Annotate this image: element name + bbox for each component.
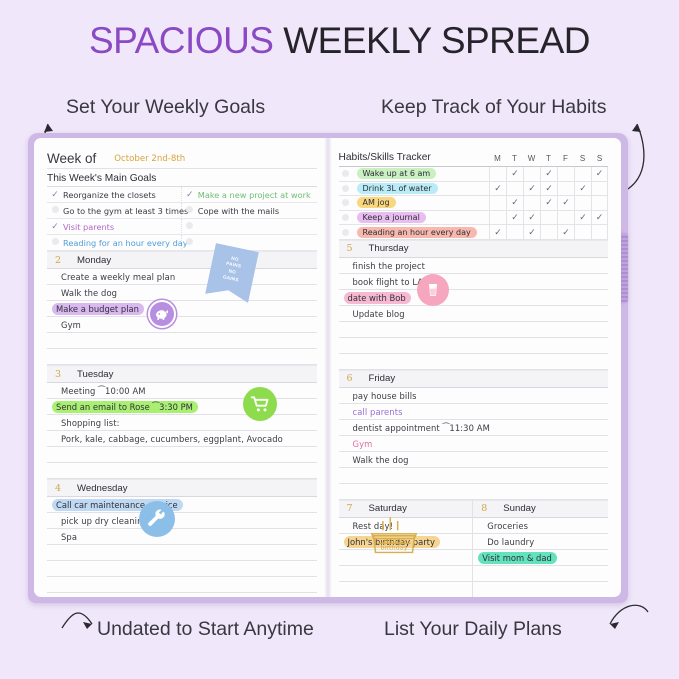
- goal-row[interactable]: ✓Visit parents: [47, 219, 182, 235]
- habit-check-empty[interactable]: [574, 167, 591, 181]
- day-block: 8SundayGroceriesDo laundryVisit mom & da…: [473, 500, 608, 597]
- goal-label: Go to the gym at least 3 times: [63, 206, 188, 216]
- habit-label: Wake up at 6 am: [357, 168, 437, 179]
- habit-check-cells: ✓✓✓✓: [489, 211, 608, 225]
- habit-check-empty[interactable]: [557, 167, 574, 181]
- goal-row[interactable]: Cope with the mails: [182, 203, 317, 219]
- day-number: 5: [339, 243, 361, 254]
- habit-label: Reading an hour every day: [357, 227, 477, 238]
- planner-line-text: Walk the dog: [61, 288, 117, 298]
- planner-line[interactable]: [47, 593, 317, 597]
- caption-set-weekly-goals: Set Your Weekly Goals: [66, 96, 265, 119]
- planner-line-text: call parents: [353, 407, 403, 417]
- habit-check-marked[interactable]: ✓: [557, 196, 574, 210]
- planner-line[interactable]: Shopping list:: [47, 415, 317, 431]
- habit-row[interactable]: AM jog✓✓✓: [339, 196, 609, 211]
- habit-check-empty[interactable]: [574, 196, 591, 210]
- habit-check-empty[interactable]: [574, 225, 591, 239]
- habit-check-empty[interactable]: [489, 196, 506, 210]
- planner-line-text: Walk the dog: [353, 455, 409, 465]
- day-header: 5Thursday: [339, 240, 609, 258]
- planner-line-text: dentist appointment ⁀11:30 AM: [353, 423, 490, 433]
- goal-checkbox-icon[interactable]: [182, 206, 198, 215]
- habit-check-marked[interactable]: ✓: [506, 167, 523, 181]
- planner-line[interactable]: date with Bob: [339, 290, 609, 306]
- planner-line[interactable]: [339, 566, 473, 582]
- habit-check-marked[interactable]: ✓: [489, 225, 506, 239]
- day-header: 2Monday: [47, 251, 317, 269]
- planner-line[interactable]: Make a budget plan: [47, 301, 317, 317]
- planner-line-text: Do laundry: [487, 537, 534, 547]
- drink-water-sticker: [417, 274, 449, 306]
- habit-check-marked[interactable]: ✓: [574, 182, 591, 196]
- planner-line-text: Shopping list:: [61, 418, 120, 428]
- habit-check-marked[interactable]: ✓: [523, 182, 540, 196]
- planner-line[interactable]: pick up dry cleaning: [47, 513, 317, 529]
- planner-line[interactable]: pay house bills: [339, 388, 609, 404]
- goal-row[interactable]: Go to the gym at least 3 times: [47, 203, 182, 219]
- habit-day-header: W: [523, 154, 540, 163]
- habit-label: AM jog: [357, 197, 396, 208]
- goal-checkbox-icon[interactable]: [182, 222, 198, 231]
- planner-line[interactable]: Create a weekly meal plan: [47, 269, 317, 285]
- habit-check-cells: ✓✓✓: [489, 167, 608, 181]
- planner-line[interactable]: Meeting ⁀10:00 AM: [47, 383, 317, 399]
- planner-line[interactable]: [339, 484, 609, 500]
- planner-line[interactable]: Walk the dog: [339, 452, 609, 468]
- planner-line[interactable]: [47, 545, 317, 561]
- day-header: 3Tuesday: [47, 365, 317, 383]
- planner-line-text: finish the project: [353, 261, 426, 271]
- habit-check-marked[interactable]: ✓: [523, 211, 540, 225]
- planner-line-text: Gym: [61, 320, 81, 330]
- goal-label: Reading for an hour every day: [63, 238, 188, 248]
- habit-checkbox-icon[interactable]: [342, 170, 349, 177]
- planner-line-text: Groceries: [487, 521, 528, 531]
- habit-check-marked[interactable]: ✓: [540, 182, 557, 196]
- planner-line[interactable]: Gym: [47, 317, 317, 333]
- habit-row[interactable]: Keep a journal✓✓✓✓: [339, 211, 609, 226]
- goal-row[interactable]: Reading for an hour every day: [47, 235, 182, 251]
- habit-check-empty[interactable]: [591, 196, 608, 210]
- day-name: Friday: [361, 373, 396, 384]
- habit-row[interactable]: Reading an hour every day✓✓✓: [339, 225, 609, 240]
- planner-line-text: Create a weekly meal plan: [61, 272, 175, 282]
- habit-check-empty[interactable]: [591, 225, 608, 239]
- birthday-cake-sticker: Happybirthday: [366, 508, 422, 558]
- day-name: Thursday: [361, 243, 409, 254]
- planner-line[interactable]: [47, 349, 317, 365]
- habit-check-marked[interactable]: ✓: [591, 211, 608, 225]
- habit-check-cells: ✓✓✓: [489, 196, 608, 210]
- habit-check-cells: ✓✓✓✓: [489, 182, 608, 196]
- planner-line[interactable]: Do laundry: [473, 534, 608, 550]
- planner-line[interactable]: [339, 338, 609, 354]
- goal-row[interactable]: [182, 219, 317, 235]
- planner-line-text: Gym: [353, 439, 373, 449]
- planner-line[interactable]: Groceries: [473, 518, 608, 534]
- page-title: SPACIOUS WEEKLY SPREAD: [0, 20, 679, 62]
- habit-check-marked[interactable]: ✓: [540, 167, 557, 181]
- planner-line[interactable]: Spa: [47, 529, 317, 545]
- planner-line[interactable]: [47, 577, 317, 593]
- day-block: 2MondayCreate a weekly meal planWalk the…: [47, 251, 317, 365]
- habit-check-empty[interactable]: [591, 182, 608, 196]
- habit-checkbox-icon[interactable]: [342, 185, 349, 192]
- habit-check-marked[interactable]: ✓: [506, 211, 523, 225]
- habit-check-marked[interactable]: ✓: [591, 167, 608, 181]
- planner-line[interactable]: [339, 582, 473, 597]
- day-name: Wednesday: [69, 483, 128, 494]
- habit-check-marked[interactable]: ✓: [574, 211, 591, 225]
- goal-checkmark-icon[interactable]: ✓: [47, 189, 63, 200]
- wrench-sticker: [139, 501, 175, 537]
- planner-line[interactable]: [47, 447, 317, 463]
- planner-notebook: Week of October 2nd-8th This Week's Main…: [28, 133, 628, 603]
- goal-row[interactable]: ✓Reorganize the closets: [47, 187, 182, 203]
- planner-line[interactable]: [473, 566, 608, 582]
- habit-check-empty[interactable]: [540, 211, 557, 225]
- habit-check-empty[interactable]: [557, 211, 574, 225]
- goal-checkbox-icon[interactable]: [182, 238, 198, 247]
- goals-column-left: ✓Reorganize the closetsGo to the gym at …: [47, 187, 182, 251]
- day-header: 6Friday: [339, 370, 609, 388]
- day-number: 4: [47, 483, 69, 494]
- habit-day-header: S: [574, 154, 591, 163]
- planner-line[interactable]: call parents: [339, 404, 609, 420]
- habit-row[interactable]: Wake up at 6 am✓✓✓: [339, 167, 609, 182]
- habit-day-header: S: [591, 154, 608, 163]
- planner-line-text: date with Bob: [344, 292, 411, 304]
- planner-line-text: Meeting ⁀10:00 AM: [61, 386, 146, 396]
- day-name: Sunday: [495, 503, 536, 514]
- habit-check-empty[interactable]: [540, 225, 557, 239]
- planner-line-text: Pork, kale, cabbage, cucumbers, eggplant…: [61, 434, 283, 444]
- planner-line-text: Update blog: [353, 309, 405, 319]
- planner-line[interactable]: [47, 561, 317, 577]
- habits-day-headers: MTWTFSS: [489, 154, 608, 163]
- planner-line[interactable]: Update blog: [339, 306, 609, 322]
- goal-checkbox-icon[interactable]: [47, 238, 63, 247]
- day-number: 3: [47, 369, 69, 380]
- planner-line[interactable]: finish the project: [339, 258, 609, 274]
- week-of-label: Week of: [47, 151, 96, 166]
- goals-section-title: This Week's Main Goals: [47, 169, 317, 187]
- svg-text:birthday: birthday: [380, 544, 407, 552]
- habit-label: Keep a journal: [357, 212, 426, 223]
- habit-checkbox-icon[interactable]: [342, 214, 349, 221]
- goals-grid: ✓Reorganize the closetsGo to the gym at …: [47, 187, 317, 251]
- habit-check-empty[interactable]: [523, 196, 540, 210]
- caption-keep-track-habits: Keep Track of Your Habits: [381, 96, 606, 119]
- sunday-column: 8SundayGroceriesDo laundryVisit mom & da…: [473, 500, 608, 597]
- planner-line-text: pick up dry cleaning: [61, 516, 148, 526]
- habit-day-header: M: [489, 154, 506, 163]
- planner-line-text: Visit mom & dad: [478, 552, 557, 564]
- habit-check-marked[interactable]: ✓: [523, 225, 540, 239]
- page-title-rest: WEEKLY SPREAD: [273, 20, 590, 61]
- day-number: 7: [339, 503, 361, 514]
- day-block: 6Fridaypay house billscall parentsdentis…: [339, 370, 609, 500]
- planner-line[interactable]: dentist appointment ⁀11:30 AM: [339, 420, 609, 436]
- habit-check-empty[interactable]: [523, 167, 540, 181]
- habit-check-marked[interactable]: ✓: [489, 182, 506, 196]
- planner-line-text: book flight to LA: [353, 277, 424, 287]
- planner-line[interactable]: Gym: [339, 436, 609, 452]
- habit-check-marked[interactable]: ✓: [506, 196, 523, 210]
- habits-tracker-rows: Wake up at 6 am✓✓✓Drink 3L of water✓✓✓✓A…: [339, 167, 609, 240]
- planner-line[interactable]: [47, 333, 317, 349]
- planner-line-text: Make a budget plan: [52, 303, 144, 315]
- planner-line[interactable]: [339, 354, 609, 370]
- day-name: Tuesday: [69, 369, 113, 380]
- day-block: 5Thursdayfinish the projectbook flight t…: [339, 240, 609, 370]
- goal-label: Make a new project at work: [198, 190, 311, 200]
- planner-line[interactable]: Walk the dog: [47, 285, 317, 301]
- habit-label: Drink 3L of water: [357, 183, 438, 194]
- planner-page-spread: Week of October 2nd-8th This Week's Main…: [34, 138, 621, 597]
- habit-day-header: F: [557, 154, 574, 163]
- day-header: 4Wednesday: [47, 479, 317, 497]
- goal-label: Visit parents: [63, 222, 114, 232]
- caption-undated-start-anytime: Undated to Start Anytime: [97, 618, 314, 641]
- habit-check-empty[interactable]: [506, 182, 523, 196]
- goal-label: Cope with the mails: [198, 206, 279, 216]
- habit-checkbox-icon[interactable]: [342, 199, 349, 206]
- goal-checkmark-icon[interactable]: ✓: [182, 189, 198, 200]
- planner-line[interactable]: [339, 322, 609, 338]
- habit-row[interactable]: Drink 3L of water✓✓✓✓: [339, 182, 609, 197]
- planner-line-text: Spa: [61, 532, 77, 542]
- habit-check-empty[interactable]: [506, 225, 523, 239]
- planner-line[interactable]: Call car maintenance service: [47, 497, 317, 513]
- goals-column-right: ✓Make a new project at workCope with the…: [182, 187, 317, 251]
- habit-checkbox-icon[interactable]: [342, 229, 349, 236]
- shopping-cart-sticker: [243, 387, 277, 421]
- planner-line[interactable]: [473, 582, 608, 597]
- planner-line-text: pay house bills: [353, 391, 417, 401]
- planner-line[interactable]: Pork, kale, cabbage, cucumbers, eggplant…: [47, 431, 317, 447]
- goal-checkbox-icon[interactable]: [47, 206, 63, 215]
- goal-checkmark-icon[interactable]: ✓: [47, 221, 63, 232]
- planner-line[interactable]: [47, 463, 317, 479]
- goal-row[interactable]: ✓Make a new project at work: [182, 187, 317, 203]
- week-of-value[interactable]: October 2nd-8th: [114, 154, 185, 164]
- page-title-accent: SPACIOUS: [89, 20, 273, 61]
- habit-check-marked[interactable]: ✓: [540, 196, 557, 210]
- week-of-header: Week of October 2nd-8th: [47, 148, 317, 169]
- left-page: Week of October 2nd-8th This Week's Main…: [34, 138, 328, 597]
- day-number: 6: [339, 373, 361, 384]
- goal-label: Reorganize the closets: [63, 190, 156, 200]
- planner-line[interactable]: [339, 468, 609, 484]
- day-block: 3TuesdayMeeting ⁀10:00 AMSend an email t…: [47, 365, 317, 479]
- habit-check-empty[interactable]: [557, 182, 574, 196]
- habits-tracker-title: Habits/Skills Tracker: [339, 152, 431, 163]
- piggy-bank-sticker: [148, 300, 176, 328]
- planner-line[interactable]: book flight to LA: [339, 274, 609, 290]
- caption-list-daily-plans: List Your Daily Plans: [384, 618, 562, 641]
- day-name: Monday: [69, 255, 111, 266]
- habit-check-empty[interactable]: [489, 167, 506, 181]
- day-block: 4WednesdayCall car maintenance servicepi…: [47, 479, 317, 597]
- habit-day-header: T: [506, 154, 523, 163]
- goal-row[interactable]: [182, 235, 317, 251]
- day-number: 8: [473, 503, 495, 514]
- day-number: 2: [47, 255, 69, 266]
- habit-check-marked[interactable]: ✓: [557, 225, 574, 239]
- habit-check-empty[interactable]: [489, 211, 506, 225]
- habit-check-cells: ✓✓✓: [489, 225, 608, 239]
- planner-line-text: Send an email to Rose ⁀3:30 PM: [52, 401, 198, 413]
- day-header: 8Sunday: [473, 500, 608, 518]
- planner-line[interactable]: Visit mom & dad: [473, 550, 608, 566]
- habit-day-header: T: [540, 154, 557, 163]
- habits-tracker-header: Habits/Skills Tracker MTWTFSS: [339, 148, 609, 167]
